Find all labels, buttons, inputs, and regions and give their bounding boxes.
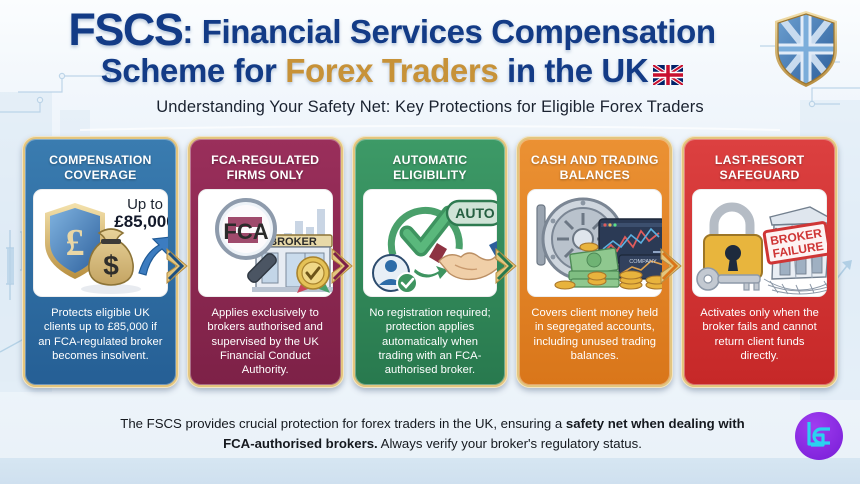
user-avatar-check-icon — [373, 255, 417, 293]
subtitle: Understanding Your Safety Net: Key Prote… — [0, 98, 860, 117]
card-description: Covers client money held in segregated a… — [525, 297, 664, 385]
card-illustration: BROKER FCA — [198, 189, 333, 297]
coverage-label-line1: Up to — [127, 196, 163, 213]
footer-text-pre: The FSCS provides crucial protection for… — [120, 416, 566, 431]
svg-text:$: $ — [103, 250, 119, 281]
award-rosette-icon — [297, 257, 330, 293]
card-description: No registration required; protection app… — [361, 297, 500, 385]
card-description: Protects eligible UK clients up to £85,0… — [31, 297, 170, 385]
auto-badge: AUTO — [447, 201, 498, 225]
card-illustration: COMPANY — [527, 189, 662, 297]
connector-arrow-4 — [659, 247, 683, 285]
svg-text:AUTO: AUTO — [455, 205, 495, 221]
card-automatic-eligibility[interactable]: Automatic Eligibility AUTO — [352, 136, 509, 388]
checkmark-icon — [407, 213, 449, 249]
title-part2-pre: Scheme for — [101, 52, 286, 89]
title-acronym: FSCS — [68, 4, 182, 55]
lc-monogram-logo[interactable] — [794, 411, 844, 461]
uk-shield-icon — [770, 8, 842, 90]
svg-text:£: £ — [66, 222, 85, 264]
uk-flag-icon — [653, 57, 683, 92]
title-part2-highlight: Forex Traders — [285, 52, 498, 89]
card-last-resort-safeguard[interactable]: Last-Resort Safeguard — [681, 136, 838, 388]
connector-arrow-1 — [165, 247, 189, 285]
footer-note: The FSCS provides crucial protection for… — [110, 414, 755, 454]
svg-text:BROKER: BROKER — [269, 236, 317, 248]
title-part1: : Financial Services Compensation — [182, 13, 715, 50]
title-part2-post: in the UK — [498, 52, 648, 89]
card-illustration: AUTO — [363, 189, 498, 297]
background-bottom-band — [0, 458, 860, 484]
card-title: FCA-Regulated Firms Only — [196, 145, 335, 189]
card-illustration: £ $ Up to £85,000 — [33, 189, 168, 297]
card-title: Last-Resort Safeguard — [690, 145, 829, 189]
coverage-label-line2: £85,000 — [114, 212, 168, 231]
flow-arrow-icon — [414, 266, 448, 279]
safety-net-icon — [764, 279, 827, 294]
svg-text:FCA: FCA — [223, 219, 268, 244]
card-compensation-coverage[interactable]: Compensation Coverage £ — [22, 136, 179, 388]
card-title: Compensation Coverage — [31, 145, 170, 189]
card-description: Activates only when the broker fails and… — [690, 297, 829, 385]
header: FSCS: Financial Services Compensation Sc… — [0, 0, 860, 96]
card-title: Cash and Trading Balances — [525, 145, 664, 189]
card-illustration: BROKER FAILURE — [692, 189, 827, 297]
page-title: FSCS: Financial Services Compensation Sc… — [22, 6, 762, 92]
up-arrow-icon — [139, 237, 168, 275]
cards-row: Compensation Coverage £ — [22, 136, 838, 388]
connector-arrow-2 — [330, 247, 354, 285]
connector-arrow-3 — [494, 247, 518, 285]
fca-logo-icon: FCA — [223, 217, 268, 244]
footer-text-post: Always verify your broker's regulatory s… — [378, 436, 642, 451]
card-title: Automatic Eligibility — [361, 145, 500, 189]
card-fca-regulated-firms[interactable]: FCA-Regulated Firms Only BROKER — [187, 136, 344, 388]
svg-text:COMPANY: COMPANY — [630, 259, 658, 265]
card-description: Applies exclusively to brokers authorise… — [196, 297, 335, 385]
card-cash-trading-balances[interactable]: Cash and Trading Balances — [516, 136, 673, 388]
